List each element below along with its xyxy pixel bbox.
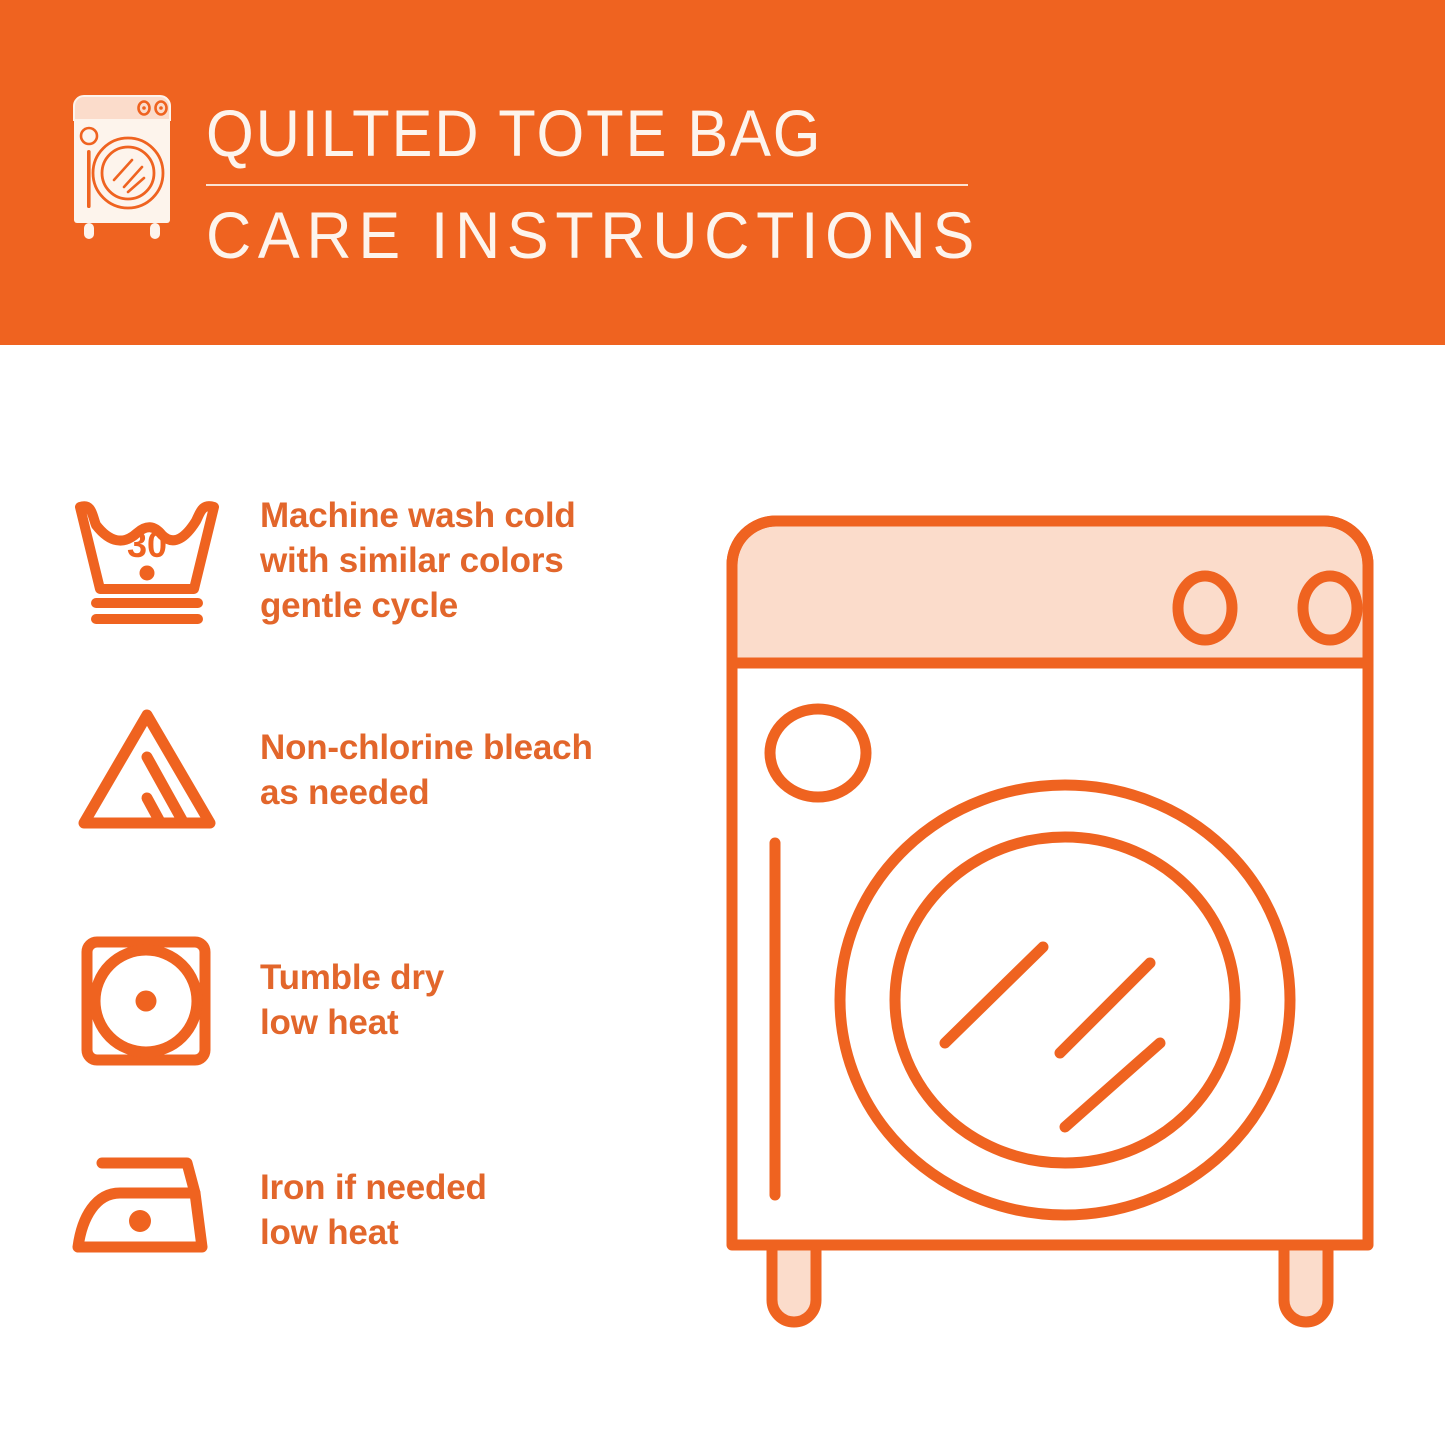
- care-item-text: Machine wash cold with similar colors ge…: [260, 493, 576, 628]
- care-text-line: with similar colors: [260, 538, 576, 583]
- care-instructions-infographic: QUILTED TOTE BAG CARE INSTRUCTIONS: [0, 0, 1445, 1445]
- header-content: QUILTED TOTE BAG CARE INSTRUCTIONS: [62, 88, 1022, 272]
- header-banner: QUILTED TOTE BAG CARE INSTRUCTIONS: [0, 0, 1445, 345]
- care-text-line: Machine wash cold: [260, 493, 576, 538]
- care-item-text: Iron if needed low heat: [260, 1165, 487, 1255]
- tumble-dry-low-heat-icon: [62, 925, 232, 1075]
- foot-right: [1284, 1245, 1328, 1322]
- care-text-line: low heat: [260, 1210, 487, 1255]
- wash-temperature-value: 30: [127, 524, 167, 565]
- care-item-iron: Iron if needed low heat: [62, 1135, 682, 1285]
- washing-machine-icon: [62, 88, 182, 248]
- care-item-bleach: Non-chlorine bleach as needed: [62, 695, 682, 845]
- care-text-line: as needed: [260, 770, 593, 815]
- care-text-line: gentle cycle: [260, 583, 576, 628]
- care-text-line: Tumble dry: [260, 955, 444, 1000]
- page-title: QUILTED TOTE BAG: [206, 96, 965, 170]
- care-text-line: Non-chlorine bleach: [260, 725, 593, 770]
- iron-low-heat-icon: [62, 1135, 232, 1285]
- dispenser-circle: [770, 709, 866, 797]
- care-item-text: Tumble dry low heat: [260, 955, 444, 1045]
- non-chlorine-bleach-triangle-icon: [62, 695, 232, 845]
- care-instruction-list: 30 Machine wash cold with similar colors…: [0, 345, 700, 1445]
- care-text-line: Iron if needed: [260, 1165, 487, 1210]
- drum-outer-ring: [840, 785, 1290, 1215]
- title-divider: [206, 184, 968, 186]
- care-item-text: Non-chlorine bleach as needed: [260, 725, 593, 815]
- foot-left: [772, 1245, 816, 1322]
- drum-inner-ring: [895, 837, 1235, 1163]
- drum-streaks: [945, 947, 1160, 1127]
- page-subtitle: CARE INSTRUCTIONS: [206, 198, 981, 272]
- care-text-line: low heat: [260, 1000, 444, 1045]
- care-item-tumble-dry: Tumble dry low heat: [62, 925, 682, 1075]
- header-titles: QUILTED TOTE BAG CARE INSTRUCTIONS: [206, 88, 1022, 272]
- front-load-washing-machine-illustration: [700, 455, 1400, 1385]
- wash-tub-30-gentle-icon: 30: [62, 485, 232, 635]
- control-panel: [732, 521, 1368, 663]
- care-item-machine-wash: 30 Machine wash cold with similar colors…: [62, 485, 682, 635]
